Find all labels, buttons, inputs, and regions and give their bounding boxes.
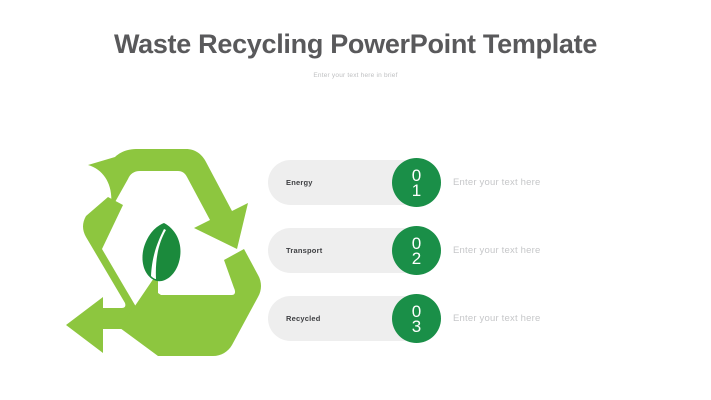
step-label: Transport bbox=[286, 228, 322, 273]
list-item[interactable]: Recycled 0 3 Enter your text here bbox=[268, 296, 688, 341]
slide-canvas: Waste Recycling PowerPoint Template Ente… bbox=[0, 0, 711, 400]
list-item[interactable]: Energy 0 1 Enter your text here bbox=[268, 160, 688, 205]
slide-header: Waste Recycling PowerPoint Template Ente… bbox=[0, 30, 711, 79]
step-description[interactable]: Enter your text here bbox=[453, 228, 540, 273]
leaf-icon bbox=[142, 223, 180, 281]
step-number-badge: 0 1 bbox=[392, 158, 441, 207]
step-number-badge: 0 2 bbox=[392, 226, 441, 275]
recycling-symbol-graphic bbox=[58, 145, 268, 360]
arrow-right-icon bbox=[120, 249, 261, 356]
page-title: Waste Recycling PowerPoint Template bbox=[0, 30, 711, 60]
step-number-badge: 0 3 bbox=[392, 294, 441, 343]
step-description[interactable]: Enter your text here bbox=[453, 296, 540, 341]
slide-subtitle: Enter your text here in brief bbox=[0, 72, 711, 79]
list-item[interactable]: Transport 0 2 Enter your text here bbox=[268, 228, 688, 273]
step-label: Energy bbox=[286, 160, 313, 205]
step-number-bottom: 3 bbox=[412, 318, 421, 335]
step-label: Recycled bbox=[286, 296, 321, 341]
step-description[interactable]: Enter your text here bbox=[453, 160, 540, 205]
step-number-bottom: 2 bbox=[412, 250, 421, 267]
step-number-bottom: 1 bbox=[412, 182, 421, 199]
steps-list: Energy 0 1 Enter your text here Transpor… bbox=[268, 160, 688, 341]
